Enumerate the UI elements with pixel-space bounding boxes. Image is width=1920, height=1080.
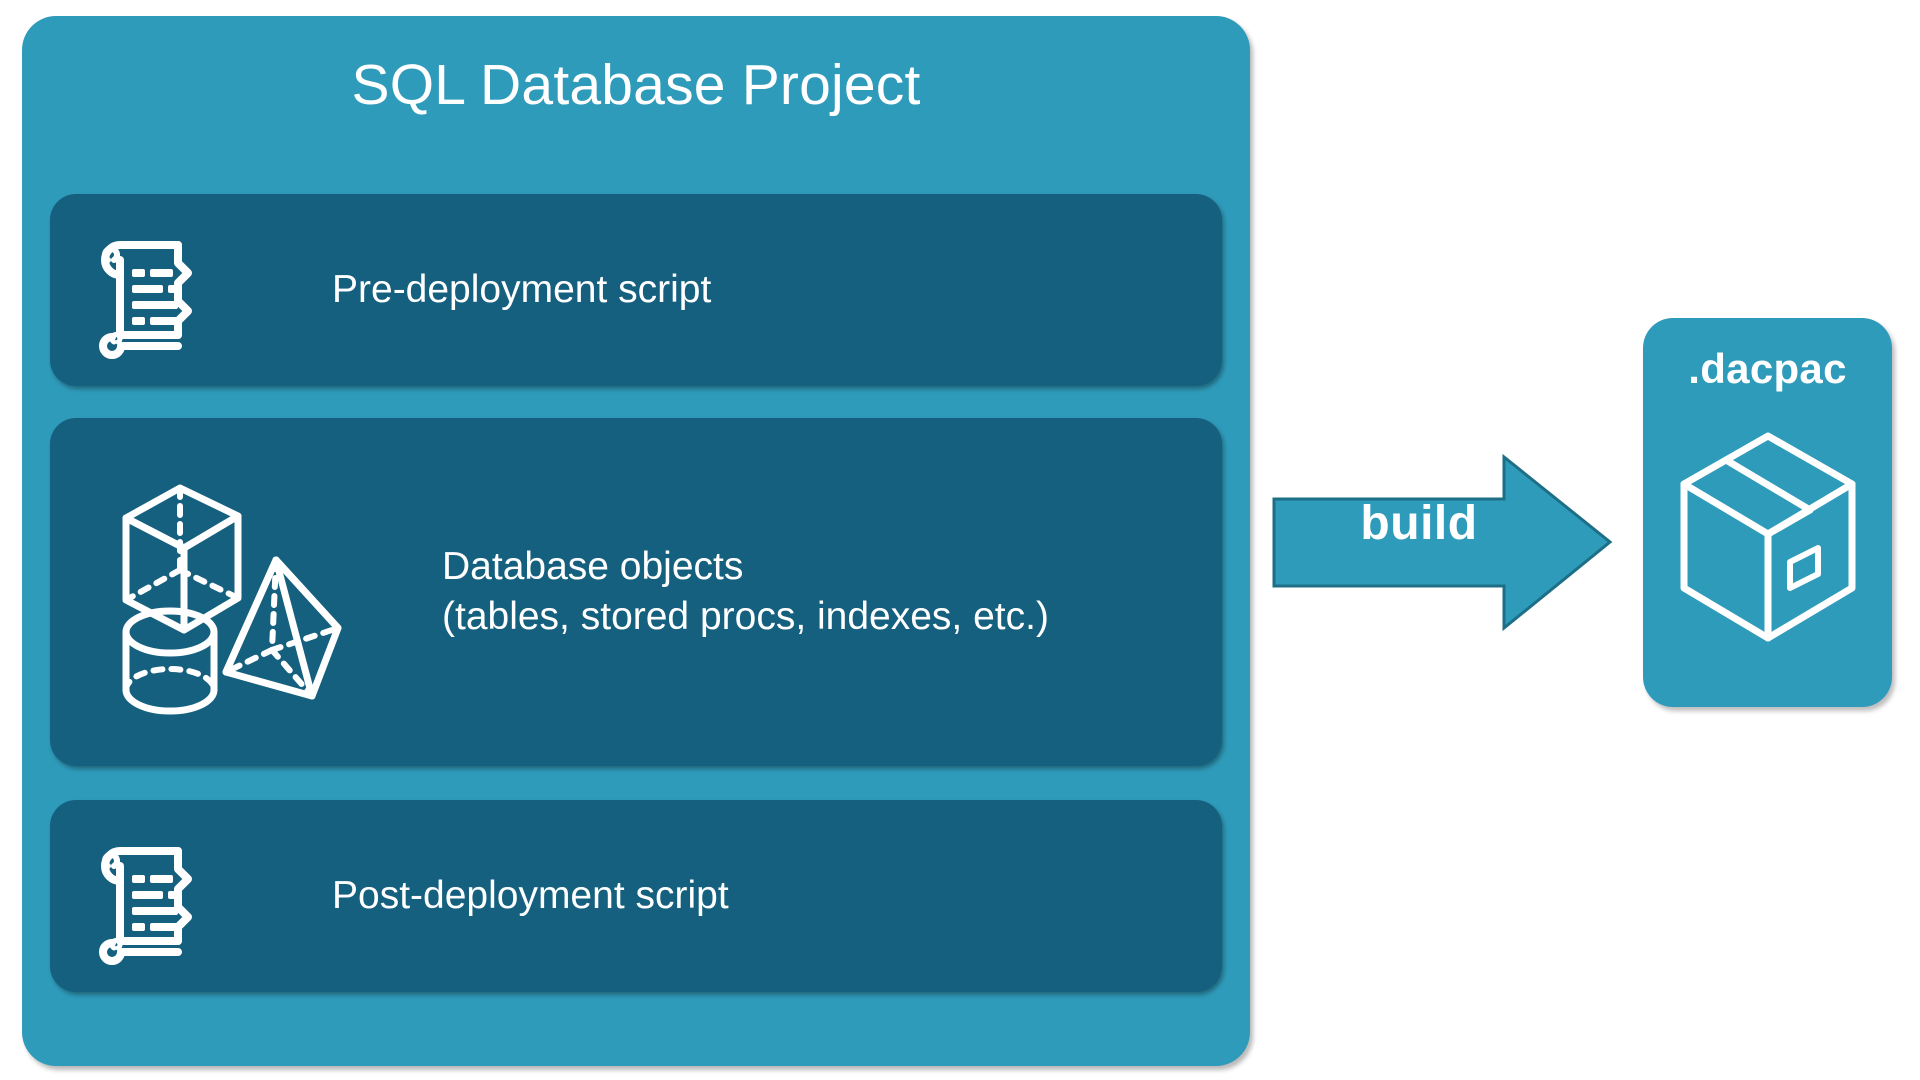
3d-shapes-icon [108, 466, 390, 718]
sql-database-project-container: SQL Database Project [22, 16, 1250, 1066]
card-database-objects[interactable]: Database objects (tables, stored procs, … [50, 418, 1222, 766]
scroll-icon [82, 229, 198, 351]
diagram-canvas: SQL Database Project [0, 0, 1920, 1080]
card-pre-deployment-script[interactable]: Pre-deployment script [50, 194, 1222, 386]
card-label-post-deployment: Post-deployment script [332, 871, 729, 921]
page-title: SQL Database Project [22, 52, 1250, 118]
card-label-pre-deployment: Pre-deployment script [332, 265, 711, 315]
build-arrow-label: build [1304, 494, 1534, 554]
scroll-icon [82, 835, 198, 957]
card-label-database-objects: Database objects (tables, stored procs, … [442, 542, 1049, 642]
card-post-deployment-script[interactable]: Post-deployment script [50, 800, 1222, 992]
dacpac-output-box[interactable]: .dacpac [1643, 318, 1892, 707]
package-box-icon [1678, 428, 1858, 648]
dacpac-label: .dacpac [1643, 344, 1892, 394]
